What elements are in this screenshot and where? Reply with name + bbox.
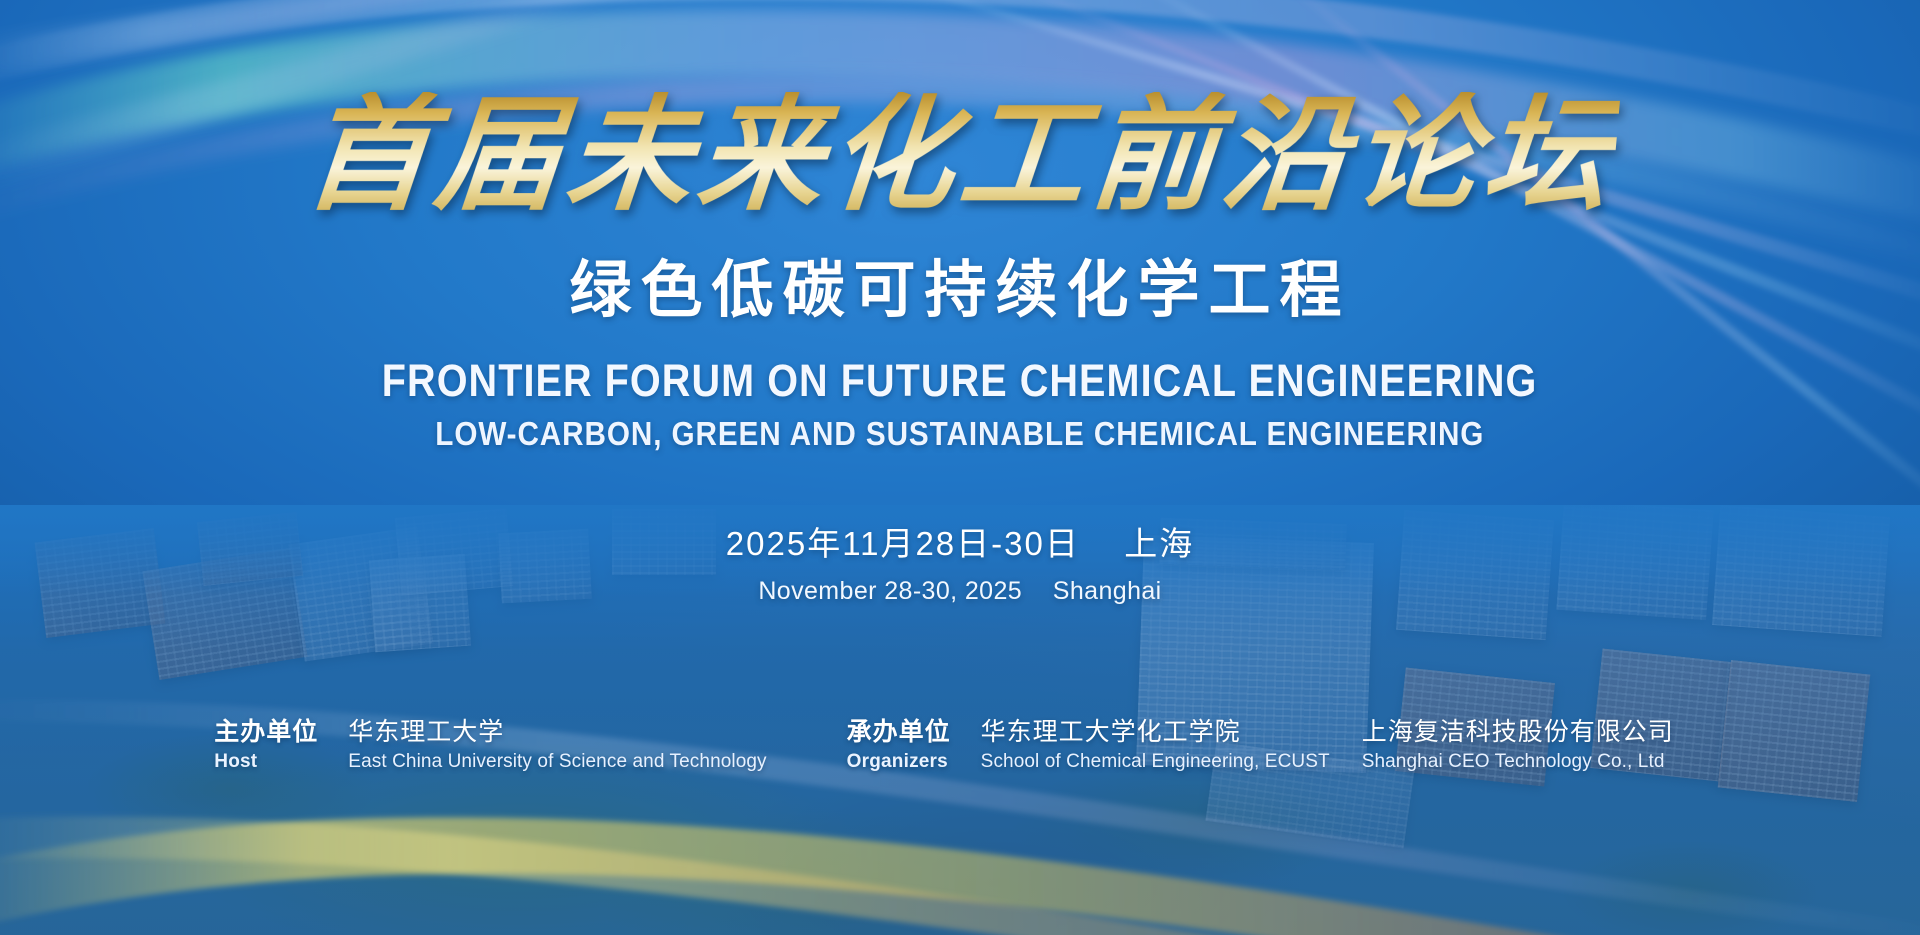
- organizers-label: 承办单位 Organizers: [847, 718, 951, 773]
- host-group: 主办单位 Host 华东理工大学 East China University o…: [214, 718, 798, 773]
- event-city-chinese: 上海: [1124, 525, 1194, 562]
- host-org-english: East China University of Science and Tec…: [348, 752, 766, 773]
- event-date-english-text: November 28-30, 2025: [758, 577, 1022, 605]
- organizers-label-english: Organizers: [847, 752, 951, 773]
- event-date-english: November 28-30, 2025 Shanghai: [758, 577, 1161, 606]
- credits-row: 主办单位 Host 华东理工大学 East China University o…: [0, 718, 1920, 773]
- host-org-chinese: 华东理工大学: [348, 718, 766, 746]
- organizer-1-chinese: 华东理工大学化工学院: [981, 718, 1330, 746]
- organizer-2-english: Shanghai CEO Technology Co., Ltd: [1362, 752, 1674, 773]
- page-title-english: FRONTIER FORUM ON FUTURE CHEMICAL ENGINE…: [382, 355, 1538, 407]
- banner-content: 首届未来化工前沿论坛 绿色低碳可持续化学工程 FRONTIER FORUM ON…: [0, 0, 1920, 935]
- organizers-group: 承办单位 Organizers 华东理工大学化工学院 School of Che…: [847, 718, 1706, 773]
- organizer-1-english: School of Chemical Engineering, ECUST: [981, 752, 1330, 773]
- organizer-2-chinese: 上海复洁科技股份有限公司: [1362, 718, 1674, 746]
- conference-banner: 首届未来化工前沿论坛 绿色低碳可持续化学工程 FRONTIER FORUM ON…: [0, 0, 1920, 935]
- host-label: 主办单位 Host: [214, 718, 318, 773]
- host-label-chinese: 主办单位: [214, 718, 318, 746]
- event-city-english: Shanghai: [1053, 577, 1162, 605]
- page-subtitle-chinese: 绿色低碳可持续化学工程: [569, 239, 1350, 329]
- host-organization: 华东理工大学 East China University of Science …: [348, 718, 766, 773]
- event-date-chinese: 2025年11月28日-30日 上海: [726, 517, 1194, 565]
- organizer-2: 上海复洁科技股份有限公司 Shanghai CEO Technology Co.…: [1362, 718, 1674, 773]
- organizers-label-chinese: 承办单位: [847, 718, 951, 746]
- page-title-chinese: 首届未来化工前沿论坛: [299, 92, 1620, 223]
- host-label-english: Host: [214, 752, 318, 773]
- page-subtitle-english: LOW-CARBON, GREEN AND SUSTAINABLE CHEMIC…: [435, 415, 1484, 453]
- organizer-1: 华东理工大学化工学院 School of Chemical Engineerin…: [981, 718, 1330, 773]
- event-date-chinese-text: 2025年11月28日-30日: [726, 525, 1080, 562]
